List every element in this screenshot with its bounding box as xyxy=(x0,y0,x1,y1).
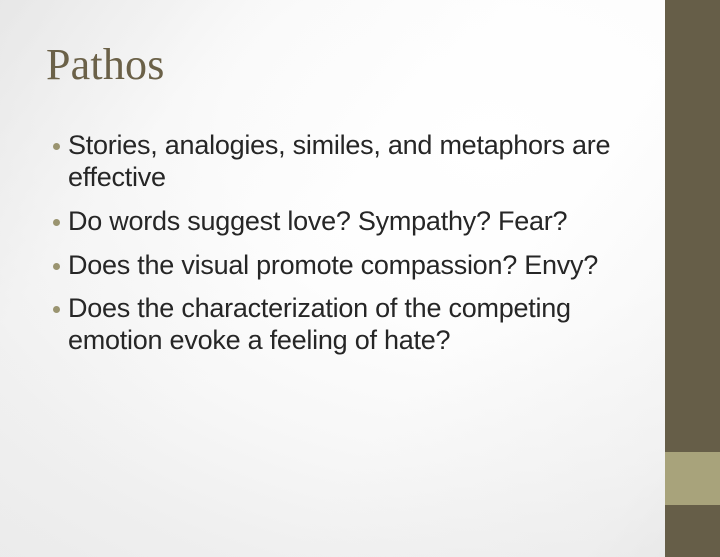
list-item: Do words suggest love? Sympathy? Fear? xyxy=(40,206,640,238)
presentation-slide: Pathos Stories, analogies, similes, and … xyxy=(0,0,720,557)
list-item-label: Does the visual promote compassion? Envy… xyxy=(68,250,640,282)
list-item: Does the visual promote compassion? Envy… xyxy=(40,250,640,282)
list-item: Stories, analogies, similes, and metapho… xyxy=(40,130,640,194)
slide-body-bullet-list: Stories, analogies, similes, and metapho… xyxy=(40,130,640,357)
bullet-dot-icon xyxy=(53,306,60,313)
bullet-dot-icon xyxy=(53,219,60,226)
list-item-label: Do words suggest love? Sympathy? Fear? xyxy=(68,206,640,238)
list-item-label: Does the characterization of the competi… xyxy=(68,293,640,357)
list-item-label: Stories, analogies, similes, and metapho… xyxy=(68,130,640,194)
list-item: Does the characterization of the competi… xyxy=(40,293,640,357)
bullet-dot-icon xyxy=(53,263,60,270)
slide-decoration-side-bar-accent xyxy=(665,452,720,505)
bullet-dot-icon xyxy=(53,143,60,150)
slide-title: Pathos xyxy=(46,40,646,89)
